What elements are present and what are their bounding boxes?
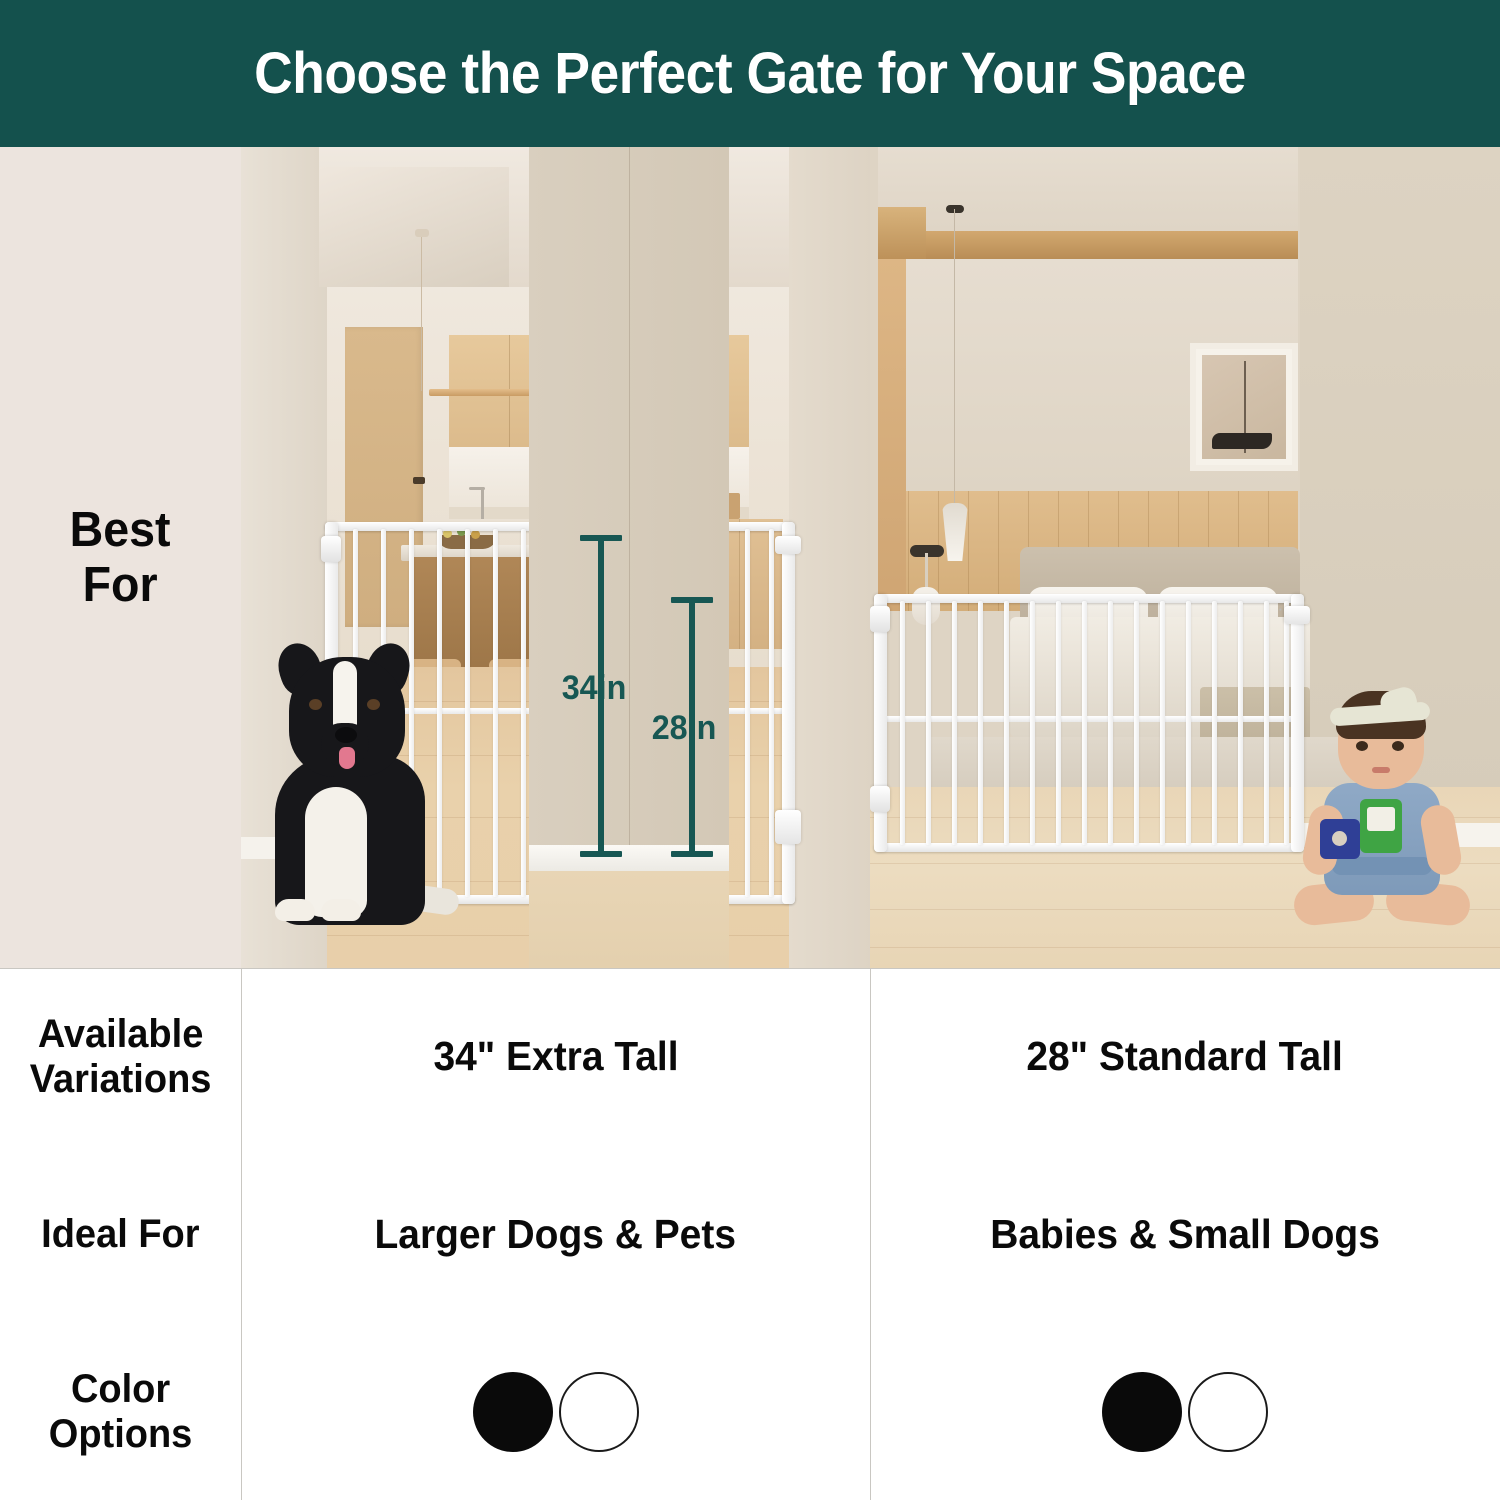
dog-paw (275, 899, 315, 921)
pendant-ceiling-cap (415, 229, 429, 237)
safety-gate-standard-tall[interactable]: • (874, 594, 1304, 852)
cell-colors-left (241, 1323, 870, 1500)
baby-child (1268, 687, 1488, 947)
hero-row-label: Best For (70, 503, 171, 613)
dog-paw (321, 899, 361, 921)
hero-row-label-line2: For (83, 558, 158, 612)
gate-right-post (782, 522, 795, 904)
pendant-ceiling-cap (946, 205, 964, 213)
hero-row-label-cell: Best For (0, 147, 241, 968)
comparison-table: Available Variations 34" Extra Tall 28" … (0, 968, 1500, 1500)
gate-hinge-top (321, 536, 341, 562)
row-label-ideal-for: Ideal For (41, 1212, 199, 1257)
table-row: Available Variations 34" Extra Tall 28" … (0, 968, 1500, 1145)
artwork-canvas (1202, 355, 1286, 459)
cell-colors-right (870, 1323, 1500, 1500)
hero-row-label-line1: Best (70, 503, 171, 557)
dimension-label-34in: 34in (562, 669, 627, 708)
bedroom-crown-return (878, 207, 926, 259)
cell-ideal-right: Babies & Small Dogs (870, 1145, 1500, 1323)
baby-mouth (1372, 767, 1390, 773)
toy-block-blue (1320, 819, 1360, 859)
row-label-line2: Variations (30, 1057, 212, 1101)
table-row: Ideal For Larger Dogs & Pets Babies & Sm… (0, 1145, 1500, 1323)
value-ideal-right: Babies & Small Dogs (990, 1211, 1380, 1258)
comparison-infographic: Choose the Perfect Gate for Your Space B… (0, 0, 1500, 1500)
bedroom-closet-edge (878, 259, 906, 611)
color-swatch-black[interactable] (1102, 1372, 1182, 1452)
row-label-cell: Available Variations (0, 968, 241, 1145)
row-label-available-variations: Available Variations (30, 1012, 212, 1102)
gate-latch[interactable] (1284, 606, 1310, 624)
dog-nose (335, 727, 357, 743)
kitchen-soffit (319, 167, 509, 287)
baby-eye (1356, 741, 1368, 751)
hero-row: Best For (0, 147, 1500, 968)
row-label-color-options: Color Options (49, 1367, 193, 1457)
dimension-label-28in: 28in (652, 709, 717, 748)
cell-variations-left: 34" Extra Tall (241, 968, 870, 1145)
table-row: Color Options (0, 1323, 1500, 1500)
row-label-line2: Options (49, 1412, 193, 1456)
bedroom-ceiling (878, 147, 1298, 239)
dimension-cap-bottom (671, 851, 713, 857)
kitchen-right-wall (789, 147, 870, 968)
row-label-cell: Color Options (0, 1323, 241, 1500)
gate-hinge-top (870, 606, 890, 632)
value-extra-tall: 34" Extra Tall (433, 1033, 678, 1080)
baby-eye (1392, 741, 1404, 751)
framed-wall-art (1190, 343, 1298, 471)
color-swatch-group-right (1102, 1372, 1268, 1452)
dog-eye (309, 699, 322, 710)
row-label-line1: Color (71, 1367, 170, 1411)
back-faucet (481, 487, 484, 519)
gate-latch[interactable] (775, 536, 801, 554)
color-swatch-black[interactable] (473, 1372, 553, 1452)
header-banner: Choose the Perfect Gate for Your Space (0, 0, 1500, 147)
value-ideal-left: Larger Dogs & Pets (375, 1211, 736, 1258)
dog-eye (367, 699, 380, 710)
toy-block-green (1360, 799, 1402, 853)
gate-left-post (874, 594, 887, 852)
gate-hinge-bottom (870, 786, 890, 812)
pendant-cord (954, 209, 955, 507)
cell-variations-right: 28" Standard Tall (870, 968, 1500, 1145)
center-floor (529, 871, 729, 968)
gate-brand-tag: • (1279, 607, 1282, 614)
right-scene-photo: • (870, 147, 1500, 968)
back-faucet-spout (469, 487, 485, 490)
row-label-line1: Available (38, 1012, 203, 1056)
pendant-cord (421, 231, 422, 391)
dimension-cap-bottom (580, 851, 622, 857)
page-title: Choose the Perfect Gate for Your Space (254, 40, 1246, 107)
color-swatch-group-left (473, 1372, 639, 1452)
gate-wall-mount (775, 810, 801, 844)
baby-overall-tie (1332, 857, 1432, 875)
dog-tongue (339, 747, 355, 769)
artwork-shape (1212, 433, 1272, 449)
bedroom-wood-crown-molding (878, 231, 1298, 259)
color-swatch-white[interactable] (1188, 1372, 1268, 1452)
value-standard-tall: 28" Standard Tall (1027, 1033, 1343, 1080)
cell-ideal-left: Larger Dogs & Pets (241, 1145, 870, 1323)
door-knob-icon (413, 477, 425, 484)
dog-chest (305, 787, 367, 917)
color-swatch-white[interactable] (559, 1372, 639, 1452)
row-label-cell: Ideal For (0, 1145, 241, 1323)
border-collie-dog (259, 637, 469, 937)
